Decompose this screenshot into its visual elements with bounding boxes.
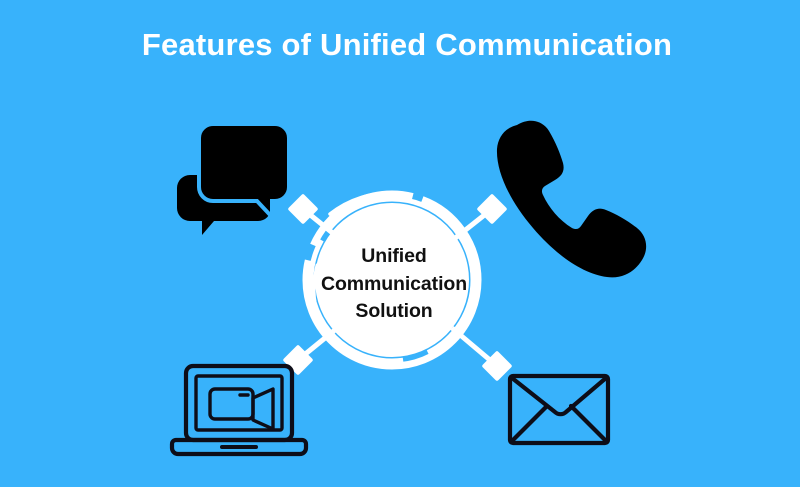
laptop-video-icon bbox=[172, 366, 306, 454]
envelope-fold-right bbox=[571, 406, 606, 441]
center-node-line-2: Communication bbox=[315, 271, 473, 299]
envelope-icon bbox=[510, 376, 608, 443]
center-node-label: Unified Communication Solution bbox=[315, 243, 473, 326]
phone-handset-icon bbox=[497, 121, 646, 278]
infographic-canvas: Features of Unified Communication bbox=[0, 0, 800, 487]
chat-bubbles-icon bbox=[177, 124, 289, 235]
video-camera-lens bbox=[253, 389, 273, 429]
center-node-line-3: Solution bbox=[315, 298, 473, 326]
center-node-line-1: Unified bbox=[315, 243, 473, 271]
phone-handset-shape bbox=[497, 121, 646, 278]
envelope-fold-left bbox=[512, 406, 547, 441]
envelope-flap bbox=[512, 378, 606, 414]
